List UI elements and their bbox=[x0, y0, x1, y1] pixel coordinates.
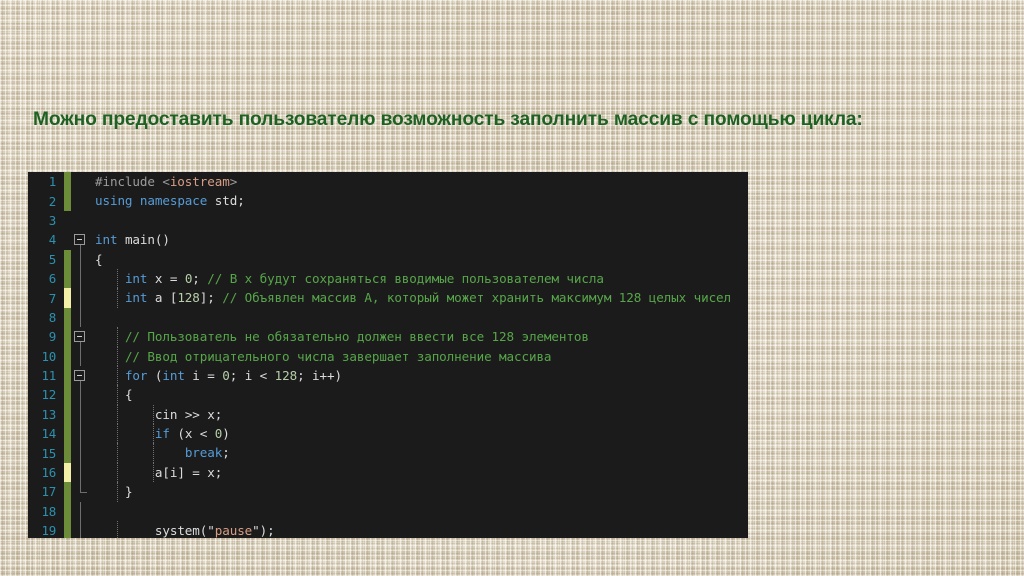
outlining-column[interactable] bbox=[71, 327, 91, 346]
code-line[interactable]: 6 int x = 0; // В х будут сохраняться вв… bbox=[28, 269, 748, 288]
saved-change-marker bbox=[64, 172, 71, 191]
indent-guide bbox=[117, 327, 118, 346]
outlining-column bbox=[71, 463, 91, 482]
outlining-column bbox=[71, 482, 91, 501]
code-line[interactable]: 15 break; bbox=[28, 443, 748, 462]
indent-guide bbox=[153, 443, 154, 462]
line-number: 8 bbox=[28, 310, 64, 325]
saved-change-marker bbox=[64, 308, 71, 327]
saved-change-marker bbox=[64, 327, 71, 346]
saved-change-marker bbox=[64, 443, 71, 462]
saved-change-marker bbox=[64, 347, 71, 366]
line-number: 10 bbox=[28, 349, 64, 364]
saved-change-marker bbox=[64, 269, 71, 288]
code-text[interactable]: system("pause"); bbox=[91, 521, 748, 538]
outlining-column bbox=[71, 250, 91, 269]
line-number: 9 bbox=[28, 329, 64, 344]
indent-guide bbox=[117, 482, 118, 501]
code-line[interactable]: 9 // Пользователь не обязательно должен … bbox=[28, 327, 748, 346]
code-line[interactable]: 19 system("pause"); bbox=[28, 521, 748, 538]
line-number: 16 bbox=[28, 465, 64, 480]
code-line[interactable]: 2using namespace std; bbox=[28, 191, 748, 210]
code-text[interactable]: if (x < 0) bbox=[91, 424, 748, 443]
outlining-column bbox=[71, 269, 91, 288]
indent-guide bbox=[117, 405, 118, 424]
code-text[interactable]: for (int i = 0; i < 128; i++) bbox=[91, 366, 748, 385]
code-line[interactable]: 4int main() bbox=[28, 230, 748, 249]
collapse-region-icon[interactable] bbox=[74, 370, 85, 381]
indent-guide bbox=[117, 269, 118, 288]
line-number: 7 bbox=[28, 291, 64, 306]
code-line[interactable]: 7 int a [128]; // Объявлен массив А, кот… bbox=[28, 288, 748, 307]
code-line[interactable]: 17 } bbox=[28, 482, 748, 501]
code-line[interactable]: 8 bbox=[28, 308, 748, 327]
code-line[interactable]: 12 { bbox=[28, 385, 748, 404]
saved-change-marker bbox=[64, 385, 71, 404]
indent-guide bbox=[153, 405, 154, 424]
indent-guide bbox=[117, 288, 118, 307]
line-number: 17 bbox=[28, 484, 64, 499]
outlining-column bbox=[71, 521, 91, 538]
saved-change-marker bbox=[64, 521, 71, 538]
code-text[interactable]: a[i] = x; bbox=[91, 463, 748, 482]
saved-change-marker bbox=[64, 424, 71, 443]
code-text[interactable]: int main() bbox=[91, 230, 748, 249]
code-line[interactable]: 1#include <iostream> bbox=[28, 172, 748, 191]
outlining-column bbox=[71, 288, 91, 307]
code-line[interactable]: 11 for (int i = 0; i < 128; i++) bbox=[28, 366, 748, 385]
outlining-column bbox=[71, 502, 91, 521]
line-number: 3 bbox=[28, 213, 64, 228]
code-text[interactable]: cin >> x; bbox=[91, 405, 748, 424]
code-line[interactable]: 10 // Ввод отрицательного числа завершае… bbox=[28, 347, 748, 366]
indent-guide bbox=[117, 443, 118, 462]
code-text[interactable]: { bbox=[91, 385, 748, 404]
saved-change-marker bbox=[64, 405, 71, 424]
code-lines-container: 1#include <iostream>2using namespace std… bbox=[28, 172, 748, 538]
indent-guide bbox=[117, 385, 118, 404]
indent-guide bbox=[117, 463, 118, 482]
line-number: 14 bbox=[28, 426, 64, 441]
line-number: 15 bbox=[28, 446, 64, 461]
collapse-region-icon[interactable] bbox=[74, 331, 85, 342]
saved-change-marker bbox=[64, 502, 71, 521]
line-number: 4 bbox=[28, 232, 64, 247]
code-line[interactable]: 14 if (x < 0) bbox=[28, 424, 748, 443]
unsaved-change-marker bbox=[64, 463, 71, 482]
outlining-column[interactable] bbox=[71, 230, 91, 249]
region-end-marker bbox=[80, 492, 87, 493]
outlining-column bbox=[71, 211, 91, 230]
line-number: 13 bbox=[28, 407, 64, 422]
code-text[interactable]: break; bbox=[91, 443, 748, 462]
code-line[interactable]: 13 cin >> x; bbox=[28, 405, 748, 424]
collapse-region-icon[interactable] bbox=[74, 234, 85, 245]
code-text[interactable]: { bbox=[91, 250, 748, 269]
line-number: 1 bbox=[28, 174, 64, 189]
outlining-column bbox=[71, 424, 91, 443]
line-number: 12 bbox=[28, 387, 64, 402]
outlining-column bbox=[71, 443, 91, 462]
code-editor-panel[interactable]: 1#include <iostream>2using namespace std… bbox=[28, 172, 748, 538]
code-text[interactable]: // Пользователь не обязательно должен вв… bbox=[91, 327, 748, 346]
code-text[interactable]: } bbox=[91, 482, 748, 501]
indent-guide bbox=[153, 463, 154, 482]
saved-change-marker bbox=[64, 366, 71, 385]
code-text[interactable]: #include <iostream> bbox=[91, 172, 748, 191]
line-number: 18 bbox=[28, 504, 64, 519]
code-text[interactable]: int a [128]; // Объявлен массив А, котор… bbox=[91, 288, 748, 307]
line-number: 2 bbox=[28, 194, 64, 209]
change-marker-empty bbox=[64, 211, 71, 230]
outlining-column bbox=[71, 172, 91, 191]
code-line[interactable]: 5{ bbox=[28, 250, 748, 269]
indent-guide bbox=[117, 366, 118, 385]
outlining-column bbox=[71, 405, 91, 424]
outlining-column bbox=[71, 191, 91, 210]
page-title: Можно предоставить пользователю возможно… bbox=[33, 108, 863, 131]
code-text[interactable]: int x = 0; // В х будут сохраняться ввод… bbox=[91, 269, 748, 288]
indent-guide bbox=[117, 521, 118, 538]
line-number: 6 bbox=[28, 271, 64, 286]
saved-change-marker bbox=[64, 482, 71, 501]
code-line[interactable]: 16 a[i] = x; bbox=[28, 463, 748, 482]
outlining-column bbox=[71, 385, 91, 404]
code-line[interactable]: 18 bbox=[28, 502, 748, 521]
saved-change-marker bbox=[64, 191, 71, 210]
saved-change-marker bbox=[64, 250, 71, 269]
change-marker-empty bbox=[64, 230, 71, 249]
outlining-column[interactable] bbox=[71, 366, 91, 385]
line-number: 19 bbox=[28, 523, 64, 538]
indent-guide bbox=[153, 424, 154, 443]
unsaved-change-marker bbox=[64, 288, 71, 307]
code-line[interactable]: 3 bbox=[28, 211, 748, 230]
outlining-column bbox=[71, 308, 91, 327]
code-text[interactable]: using namespace std; bbox=[91, 191, 748, 210]
code-text[interactable]: // Ввод отрицательного числа завершает з… bbox=[91, 347, 748, 366]
line-number: 11 bbox=[28, 368, 64, 383]
line-number: 5 bbox=[28, 252, 64, 267]
indent-guide bbox=[117, 347, 118, 366]
outlining-column bbox=[71, 347, 91, 366]
indent-guide bbox=[117, 424, 118, 443]
